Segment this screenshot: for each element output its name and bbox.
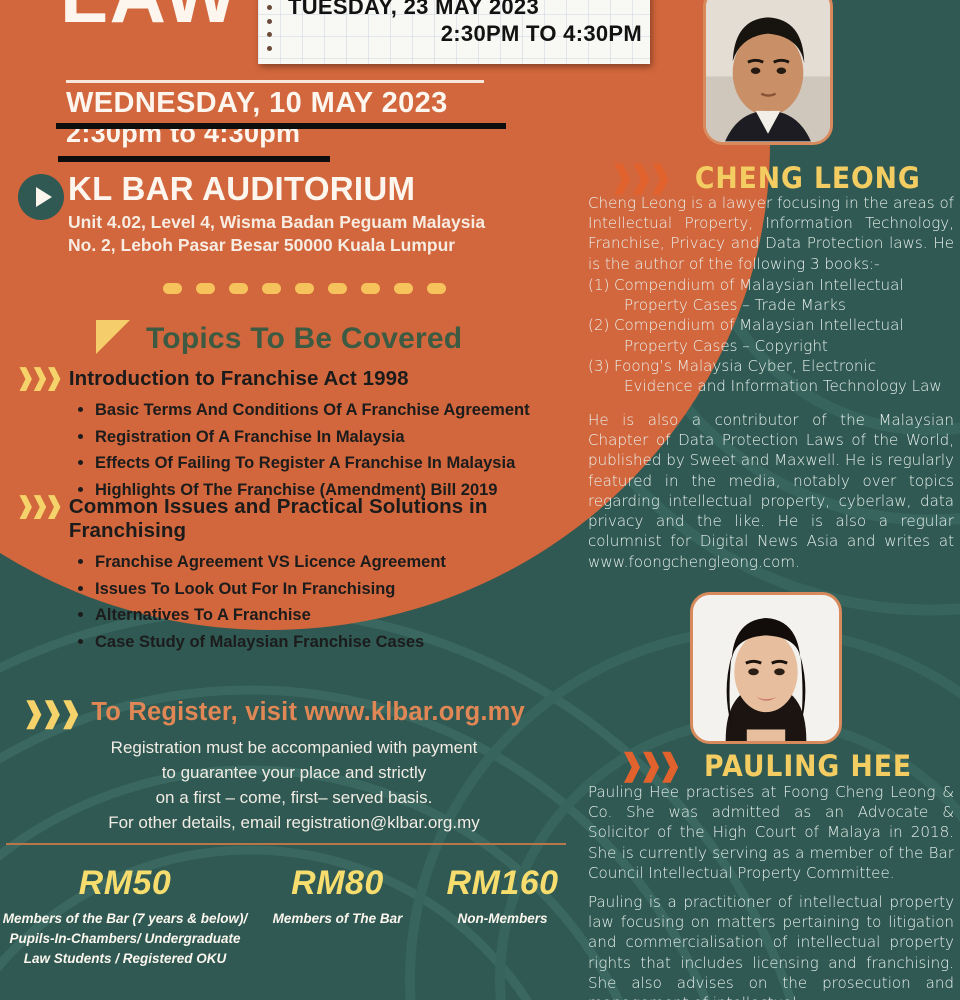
- list-item: Basic Terms And Conditions Of A Franchis…: [78, 397, 576, 424]
- list-item: (2) Compendium of Malaysian Intellectual…: [588, 315, 954, 355]
- venue-name: KL BAR AUDITORIUM: [68, 172, 485, 207]
- topic-2-heading: Common Issues and Practical Solutions in…: [69, 495, 576, 543]
- old-date-line: WEDNESDAY, 10 MAY 2023: [66, 88, 536, 119]
- speaker-1-name-row: ❱❱❱ CHENG LEONG: [580, 160, 960, 195]
- venue-block: KL BAR AUDITORIUM Unit 4.02, Level 4, Wi…: [18, 172, 485, 257]
- speaker-2-bio-paragraph-2: Pauling is a practitioner of intellectua…: [588, 892, 954, 1000]
- speaker-1-name: CHENG LEONG: [695, 161, 921, 195]
- price-amount: RM160: [425, 866, 580, 900]
- book-number: (2): [588, 315, 614, 355]
- list-item: Franchise Agreement VS Licence Agreement: [78, 549, 576, 576]
- page-title: LAW: [60, 0, 239, 34]
- price-tier-3: RM160 Non-Members: [425, 866, 580, 969]
- chevron-right-icon: ❱❱❱: [22, 696, 77, 729]
- topics-heading: Topics To Be Covered: [146, 322, 462, 356]
- avatar-cheng-leong: [703, 0, 833, 145]
- speaker-1-book-list: (1) Compendium of Malaysian Intellectual…: [588, 275, 954, 396]
- event-poster: LAW TUESDAY, 23 MAY 2023 2:30PM TO 4:30P…: [0, 0, 960, 1000]
- speaker-2-name-row: ❱❱❱ PAULING HEE: [580, 748, 960, 783]
- registration-block: ❱❱❱ To Register, visit www.klbar.org.my …: [14, 696, 574, 836]
- price-amount: RM50: [0, 866, 250, 900]
- avatar-pauling-hee: [690, 592, 842, 744]
- topic-1-heading: Introduction to Franchise Act 1998: [69, 367, 409, 391]
- speaker-1-bio-intro: Cheng Leong is a lawyer focusing in the …: [588, 193, 954, 396]
- chevron-right-icon: ❱❱❱: [16, 492, 59, 519]
- price-tier-1: RM50 Members of the Bar (7 years & below…: [0, 866, 250, 969]
- price-description: Members of The Bar: [250, 909, 425, 929]
- topic-2-bullets: Franchise Agreement VS Licence Agreement…: [78, 549, 576, 656]
- speaker-1-bio-paragraph-2: He is also a contributor of the Malaysia…: [588, 410, 954, 572]
- register-note-line-3: on a first – come, first– served basis.: [14, 785, 574, 810]
- left-column: LAW TUESDAY, 23 MAY 2023 2:30PM TO 4:30P…: [0, 0, 580, 1000]
- topics-heading-row: Topics To Be Covered: [96, 322, 462, 356]
- list-item: Case Study of Malaysian Franchise Cases: [78, 629, 576, 656]
- copper-divider: [6, 843, 566, 845]
- book-title-line-1: Compendium of Malaysian Intellectual: [614, 316, 904, 334]
- list-item: (3) Foong’s Malaysia Cyber, Electronic E…: [588, 356, 954, 396]
- play-icon: [18, 174, 64, 220]
- topic-1-bullets: Basic Terms And Conditions Of A Franchis…: [78, 397, 576, 504]
- book-title-line-1: Foong’s Malaysia Cyber, Electronic: [614, 357, 876, 375]
- topic-group-1: ❱❱❱ Introduction to Franchise Act 1998 B…: [16, 364, 576, 504]
- pricing-row: RM50 Members of the Bar (7 years & below…: [0, 866, 580, 969]
- venue-address-line-1: Unit 4.02, Level 4, Wisma Badan Peguam M…: [68, 211, 485, 234]
- register-link[interactable]: To Register, visit www.klbar.org.my: [91, 698, 525, 727]
- book-number: (1): [588, 275, 614, 315]
- cream-divider: [66, 80, 484, 83]
- chevron-right-icon: ❱❱❱: [16, 364, 59, 391]
- price-description: Non-Members: [425, 909, 580, 929]
- chevron-right-icon: ❱❱❱: [619, 748, 676, 783]
- register-note-line-4: For other details, email registration@kl…: [14, 810, 574, 835]
- book-title-line-1: Compendium of Malaysian Intellectual: [614, 276, 904, 294]
- right-column: ❱❱❱ CHENG LEONG Cheng Leong is a lawyer …: [580, 0, 960, 1000]
- register-note-line-2: to guarantee your place and strictly: [14, 760, 574, 785]
- venue-address-line-2: No. 2, Leboh Pasar Besar 50000 Kuala Lum…: [68, 234, 485, 257]
- book-title-line-2: Property Cases – Trade Marks: [614, 295, 954, 315]
- bio-paragraph: Cheng Leong is a lawyer focusing in the …: [588, 193, 954, 274]
- list-item: (1) Compendium of Malaysian Intellectual…: [588, 275, 954, 315]
- register-note-line-1: Registration must be accompanied with pa…: [14, 735, 574, 760]
- triangle-icon: [96, 320, 130, 354]
- list-item: Registration Of A Franchise In Malaysia: [78, 424, 576, 451]
- book-title-line-2: Evidence and Information Technology Law: [614, 376, 954, 396]
- notepad-punch-holes: [258, 0, 280, 64]
- list-item: Effects Of Failing To Register A Franchi…: [78, 450, 576, 477]
- topic-group-2: ❱❱❱ Common Issues and Practical Solution…: [16, 492, 576, 656]
- list-item: Issues To Look Out For In Franchising: [78, 576, 576, 603]
- old-date-block: WEDNESDAY, 10 MAY 2023 2:30pm to 4:30pm: [66, 88, 536, 148]
- book-number: (3): [588, 356, 614, 396]
- chevron-right-icon: ❱❱❱: [610, 160, 667, 195]
- speaker-2-bio-paragraph-1: Pauling Hee practises at Foong Cheng Leo…: [588, 782, 954, 883]
- price-description: Members of the Bar (7 years & below)/ Pu…: [0, 909, 250, 969]
- list-item: Alternatives To A Franchise: [78, 602, 576, 629]
- price-tier-2: RM80 Members of The Bar: [250, 866, 425, 969]
- dash-separator: [163, 283, 446, 294]
- strikethrough-time: [58, 156, 330, 162]
- book-title-line-2: Property Cases – Copyright: [614, 336, 954, 356]
- speaker-2-name: PAULING HEE: [704, 749, 912, 783]
- price-amount: RM80: [250, 866, 425, 900]
- strikethrough-date: [56, 123, 506, 129]
